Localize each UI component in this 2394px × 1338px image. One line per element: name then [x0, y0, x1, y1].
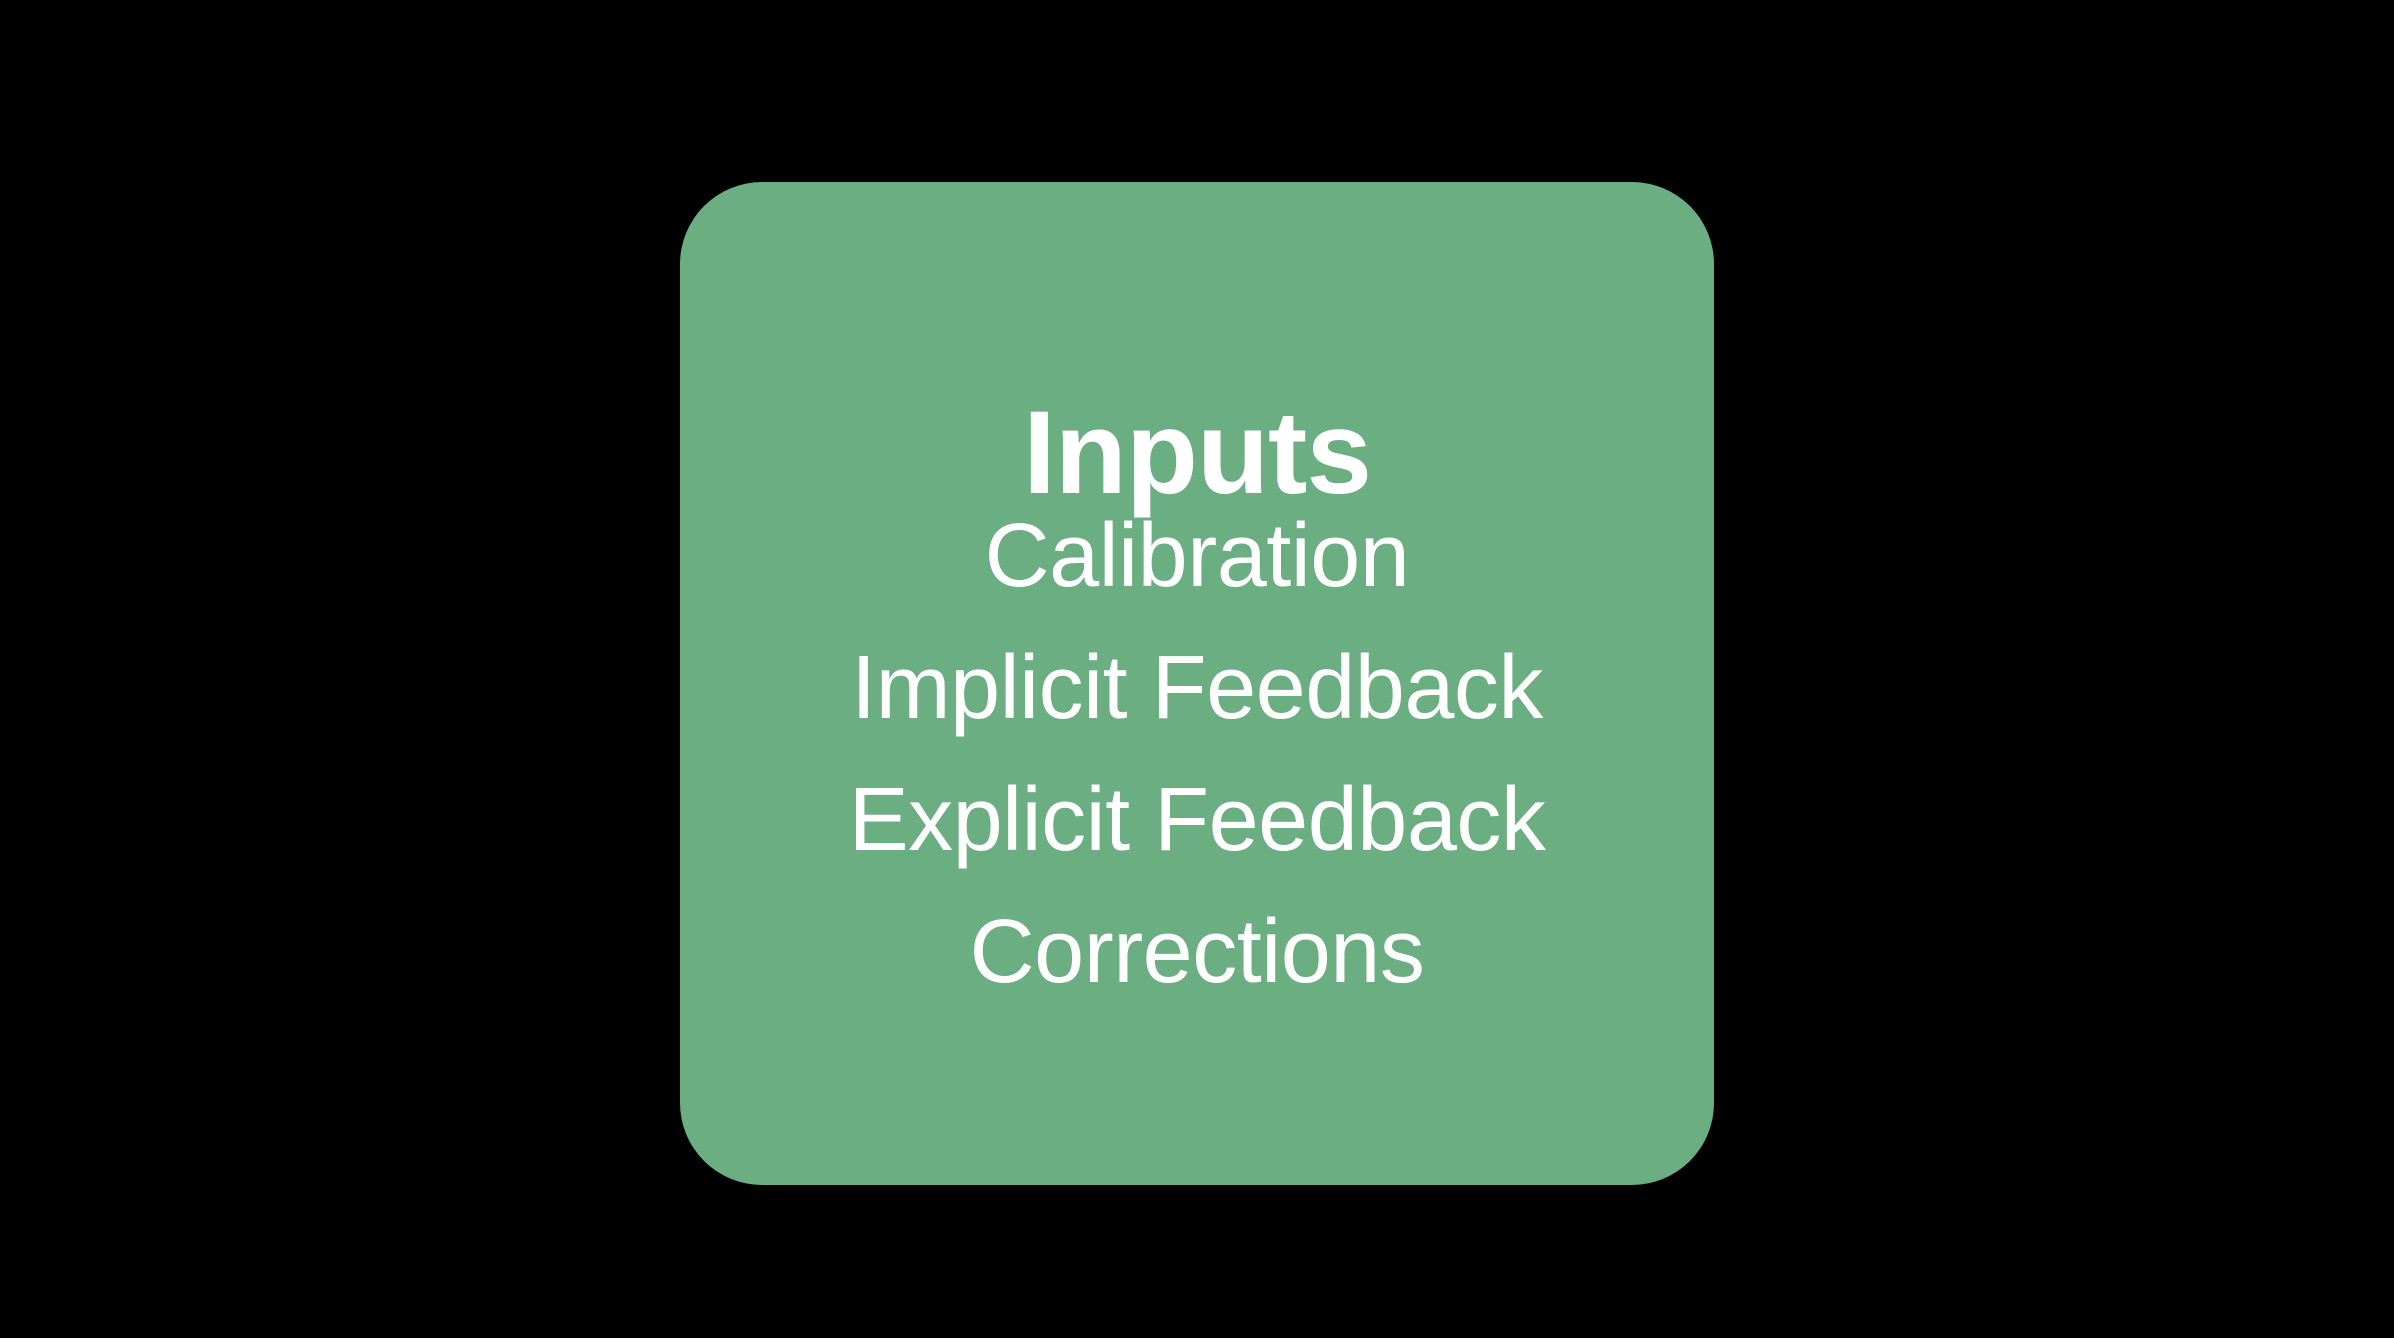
list-item: Calibration [680, 490, 1714, 622]
inputs-card: Inputs Calibration Implicit Feedback Exp… [680, 182, 1714, 1185]
list-item: Explicit Feedback [680, 754, 1714, 886]
inputs-list: Calibration Implicit Feedback Explicit F… [680, 490, 1714, 1018]
canvas: Inputs Calibration Implicit Feedback Exp… [0, 0, 2394, 1338]
list-item: Implicit Feedback [680, 622, 1714, 754]
list-item: Corrections [680, 886, 1714, 1018]
